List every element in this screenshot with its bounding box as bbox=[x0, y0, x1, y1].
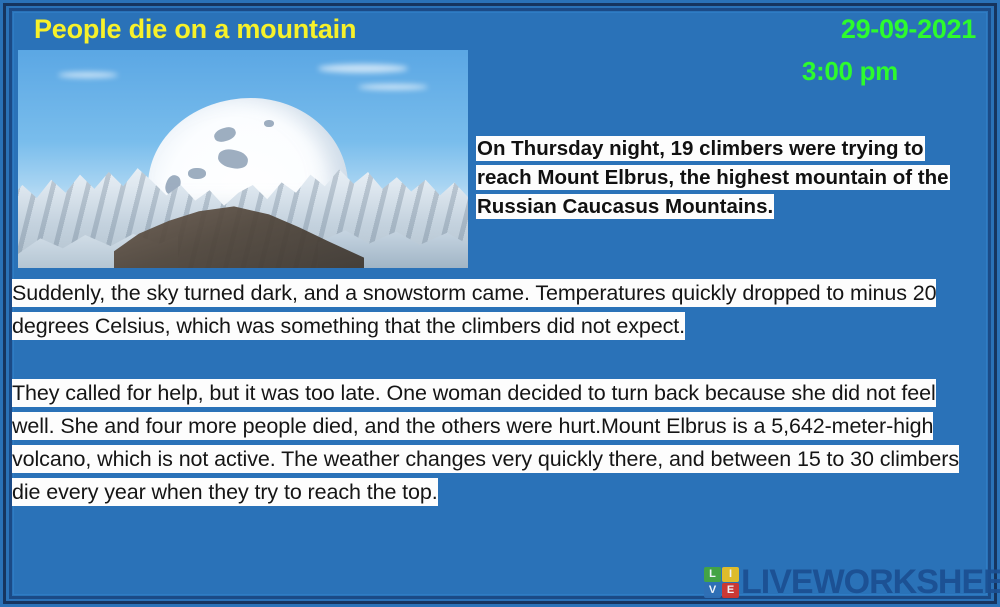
time-label: 3:00 pm bbox=[802, 56, 898, 87]
liveworksheets-logo[interactable]: L I V E LIVEWORKSHEETS bbox=[704, 565, 1000, 599]
intro-paragraph-text: On Thursday night, 19 climbers were tryi… bbox=[476, 136, 950, 219]
mount-elbrus-photo bbox=[18, 50, 468, 268]
page-title: People die on a mountain bbox=[34, 14, 356, 45]
liveworksheets-wordmark: LIVEWORKSHEETS bbox=[741, 565, 1000, 599]
logo-tile-e: E bbox=[722, 583, 739, 598]
rock-outcrop bbox=[188, 168, 206, 179]
date-label: 29-09-2021 bbox=[841, 14, 976, 45]
cloud-shape bbox=[58, 72, 118, 78]
logo-tile-l: L bbox=[704, 567, 721, 582]
liveworksheets-logo-tiles: L I V E bbox=[704, 567, 739, 598]
cloud-shape bbox=[318, 64, 408, 73]
intro-paragraph: On Thursday night, 19 climbers were tryi… bbox=[476, 134, 976, 221]
logo-tile-v: V bbox=[704, 583, 721, 598]
body-paragraph-snowstorm-text: Suddenly, the sky turned dark, and a sno… bbox=[12, 279, 936, 340]
body-paragraph-rescue-text: They called for help, but it was too lat… bbox=[12, 379, 959, 506]
body-paragraph-snowstorm: Suddenly, the sky turned dark, and a sno… bbox=[12, 277, 980, 343]
cloud-shape bbox=[358, 84, 428, 90]
rock-outcrop bbox=[264, 120, 274, 127]
body-paragraph-rescue: They called for help, but it was too lat… bbox=[12, 377, 980, 509]
worksheet-page: People die on a mountain 29-09-2021 3:00… bbox=[0, 0, 1000, 607]
logo-tile-i: I bbox=[722, 567, 739, 582]
